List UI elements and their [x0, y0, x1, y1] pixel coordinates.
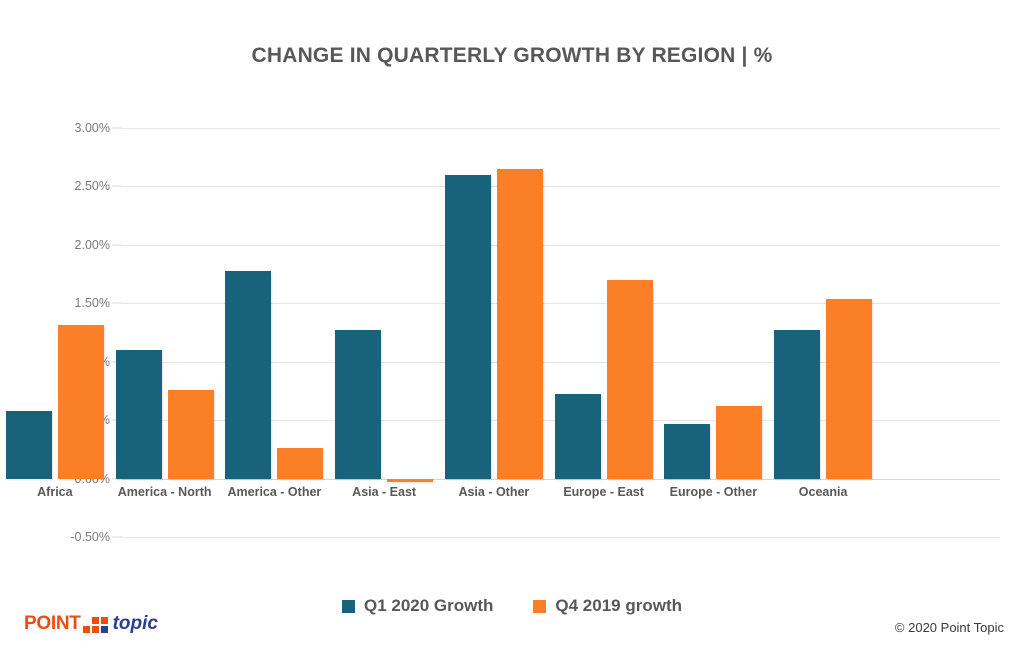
copyright-text: © 2020 Point Topic — [895, 620, 1004, 635]
logo-word-topic: topic — [113, 613, 158, 635]
bar — [335, 330, 381, 478]
bar — [497, 169, 543, 479]
x-axis-category-label: Europe - East — [563, 485, 644, 499]
x-axis-category-label: America - Other — [227, 485, 321, 499]
x-axis-category-label: Africa — [37, 485, 72, 499]
legend-label: Q1 2020 Growth — [364, 596, 493, 616]
bar — [277, 448, 323, 478]
legend-swatch-icon — [533, 600, 546, 613]
bar — [607, 280, 653, 479]
legend-label: Q4 2019 growth — [555, 596, 682, 616]
bar-group: America - Other — [220, 110, 330, 560]
bar — [664, 424, 710, 479]
x-axis-category-label: Europe - Other — [670, 485, 758, 499]
bar-group: America - North — [110, 110, 220, 560]
bar — [774, 330, 820, 478]
bar — [716, 406, 762, 478]
bar — [225, 271, 271, 479]
legend-item[interactable]: Q1 2020 Growth — [342, 596, 493, 616]
bar — [168, 390, 214, 479]
bar — [58, 325, 104, 478]
x-axis-category-label: Asia - Other — [458, 485, 529, 499]
x-axis-category-label: America - North — [118, 485, 212, 499]
bar-group: Europe - East — [549, 110, 659, 560]
bar-group: Africa — [0, 110, 110, 560]
bar-group: Oceania — [768, 110, 878, 560]
page-title: CHANGE IN QUARTERLY GROWTH BY REGION | % — [0, 44, 1024, 68]
bar — [445, 175, 491, 479]
legend-item[interactable]: Q4 2019 growth — [533, 596, 682, 616]
bars-layer: AfricaAmerica - NorthAmerica - OtherAsia… — [0, 110, 878, 560]
bar — [826, 299, 872, 479]
bar-group: Asia - Other — [439, 110, 549, 560]
logo-squares-icon — [83, 617, 108, 636]
bar — [555, 394, 601, 478]
legend-swatch-icon — [342, 600, 355, 613]
bar — [387, 479, 433, 483]
chart-plot-area: 3.00%2.50%2.00%1.50%1.00%0.50%0.00%-0.50… — [0, 110, 1024, 560]
x-axis-category-label: Asia - East — [352, 485, 416, 499]
point-topic-logo: POINT topic — [24, 612, 158, 636]
chart-page: CHANGE IN QUARTERLY GROWTH BY REGION | %… — [0, 0, 1024, 654]
bar — [6, 411, 52, 479]
logo-word-point: POINT — [24, 613, 81, 635]
bar — [116, 350, 162, 479]
x-axis-category-label: Oceania — [799, 485, 848, 499]
bar-group: Europe - Other — [659, 110, 769, 560]
bar-group: Asia - East — [329, 110, 439, 560]
